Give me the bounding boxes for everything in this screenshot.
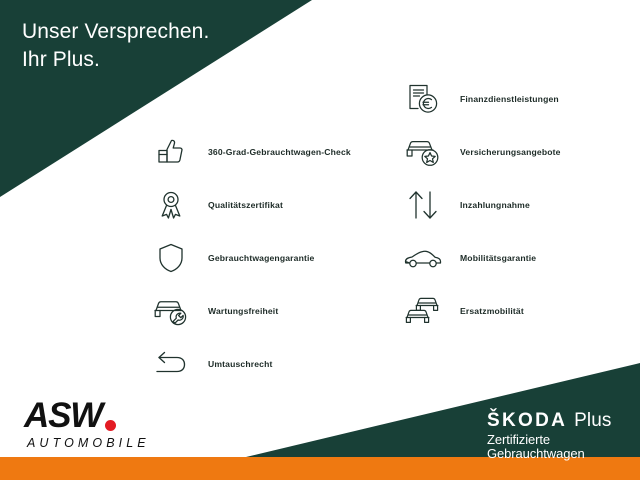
headline: Unser Versprechen. Ihr Plus. [22, 18, 209, 73]
award-rosette-icon [148, 182, 194, 228]
skoda-logo-line: ŠKODA Plus [487, 411, 640, 430]
skoda-brand-text: ŠKODA [487, 411, 567, 430]
feature-label: Wartungsfreiheit [208, 306, 278, 316]
asw-logo: ASW AUTOMOBILE [24, 398, 150, 450]
feature-item: Inzahlungnahme [400, 178, 561, 231]
feature-label: Ersatzmobilität [460, 306, 524, 316]
feature-label: Qualitätszertifikat [208, 200, 283, 210]
feature-item: Finanzdienstleistungen [400, 72, 561, 125]
promo-banner: Unser Versprechen. Ihr Plus. 360-Grad-Ge… [0, 0, 640, 480]
features-right-column: Finanzdienstleistungen Versicherungsange… [400, 72, 561, 337]
feature-label: Gebrauchtwagengarantie [208, 253, 314, 263]
two-cars-icon [400, 288, 446, 334]
asw-wordmark: ASW [24, 398, 150, 433]
car-silhouette-icon [400, 235, 446, 281]
skoda-subtitle: Zertifizierte Gebrauchtwagen [487, 433, 640, 462]
feature-item: Wartungsfreiheit [148, 284, 351, 337]
shield-icon [148, 235, 194, 281]
feature-item: Gebrauchtwagengarantie [148, 231, 351, 284]
feature-item: Mobilitätsgarantie [400, 231, 561, 284]
feature-label: Umtauschrecht [208, 359, 273, 369]
feature-label: Mobilitätsgarantie [460, 253, 536, 263]
feature-item: Qualitätszertifikat [148, 178, 351, 231]
features-left-column: 360-Grad-Gebrauchtwagen-Check Qualitätsz… [148, 125, 351, 390]
feature-label: Inzahlungnahme [460, 200, 530, 210]
feature-item: Umtauschrecht [148, 337, 351, 390]
asw-subtitle: AUTOMOBILE [27, 436, 150, 450]
skoda-plus-text: Plus [574, 411, 611, 430]
document-euro-icon [400, 76, 446, 122]
thumbs-up-icon [148, 129, 194, 175]
asw-red-dot-icon [105, 420, 116, 431]
feature-item: Versicherungsangebote [400, 125, 561, 178]
feature-label: Finanzdienstleistungen [460, 94, 559, 104]
skoda-plus-logo: ŠKODA Plus Zertifizierte Gebrauchtwagen [487, 411, 640, 462]
feature-label: 360-Grad-Gebrauchtwagen-Check [208, 147, 351, 157]
feature-item: 360-Grad-Gebrauchtwagen-Check [148, 125, 351, 178]
car-wrench-icon [148, 288, 194, 334]
asw-wordmark-text: ASW [24, 398, 102, 433]
up-down-arrows-icon [400, 182, 446, 228]
return-arrow-icon [148, 341, 194, 387]
feature-label: Versicherungsangebote [460, 147, 561, 157]
feature-item: Ersatzmobilität [400, 284, 561, 337]
car-star-icon [400, 129, 446, 175]
